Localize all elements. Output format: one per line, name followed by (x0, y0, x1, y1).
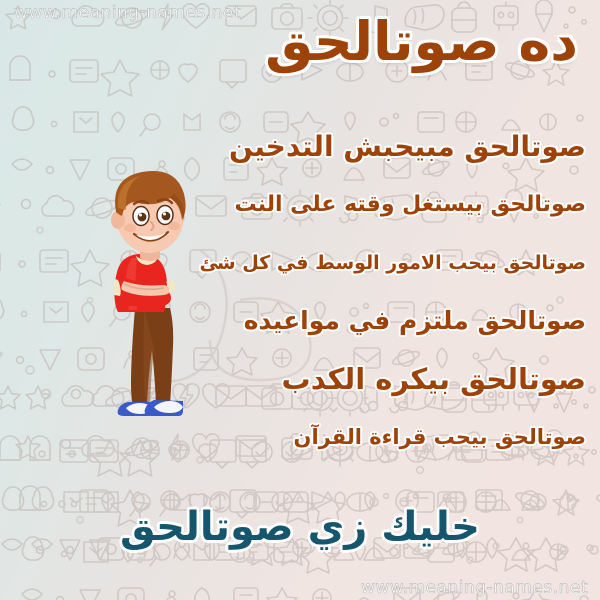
trait-list: صوتالحق مبيحبش التدخين صوتالحق بيستغل وق… (215, 118, 586, 466)
boy-head (111, 171, 186, 253)
name-meaning-card: www.meaning-names.net ده صوتالحق صوتالحق… (0, 0, 600, 600)
trait-line-3: صوتالحق بيحب الامور الوسط في كل شئ (215, 234, 586, 292)
trait-line-2: صوتالحق بيستغل وقته على النت (215, 176, 586, 234)
trait-line-4: صوتالحق ملتزم في مواعيده (215, 292, 586, 350)
cartoon-boy-illustration (78, 168, 228, 436)
page-title: ده صوتالحق (265, 14, 578, 71)
watermark-bottom: www.meaning-names.net (361, 578, 588, 598)
slogan-text: خليك زي صوتالحق (0, 505, 600, 549)
trait-line-1: صوتالحق مبيحبش التدخين (215, 118, 586, 176)
trait-line-5: صوتالحق بيكره الكدب (215, 350, 586, 408)
boy-shoes (118, 400, 183, 416)
trait-line-6: صوتالحق بيحب قراءة القرآن (215, 408, 586, 466)
watermark-top: www.meaning-names.net (14, 3, 241, 23)
